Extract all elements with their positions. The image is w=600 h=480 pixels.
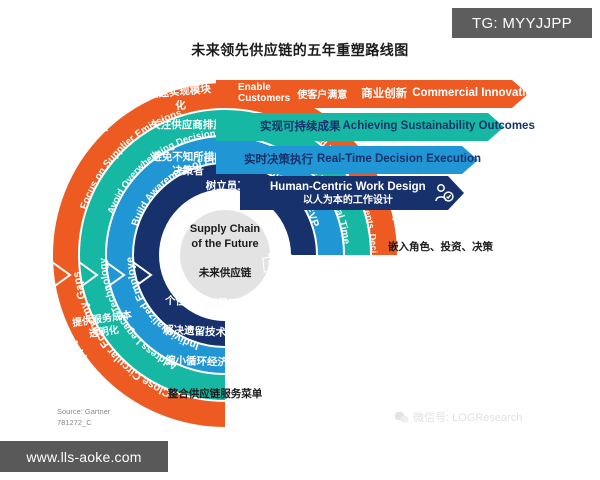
banner-commercial-innovation[interactable]: EnableCustomers 使客户满意 商业创新 Commercial In…: [216, 80, 528, 106]
cn-supplier-emissions: 关注供应商排放: [150, 118, 224, 132]
banner-cn-2: 实时决策执行: [244, 151, 313, 167]
banner-cn-1: 实现可持续成果: [260, 118, 341, 134]
page-title: 未来领先供应链的五年重塑路线图: [0, 40, 600, 60]
banner-en-1: Achieving Sustainability Outcomes: [343, 120, 535, 132]
core-label-en: Supply Chain of the Future: [185, 222, 265, 252]
banner-sustainability[interactable]: 实现可持续成果 Achieving Sustainability Outcome…: [216, 113, 504, 139]
wechat-icon: [394, 411, 409, 424]
cn-consolidate-service-menu: 整合供应链服务菜单: [150, 387, 280, 401]
person-check-icon: [434, 183, 454, 203]
url-watermark-bar: www.lls-aoke.com: [0, 441, 168, 472]
wechat-watermark: 微信号: LOGResearch: [394, 409, 522, 425]
core-label-cn: 未来供应链: [185, 266, 265, 281]
wechat-label: 微信号: LOGResearch: [413, 409, 522, 425]
banner-cn-3: 以人为本的工作设计: [303, 195, 393, 206]
banner-en-3: Human-Centric Work Design: [270, 181, 426, 193]
banner-realtime-decision[interactable]: 实时决策执行 Real-Time Decision Execution: [216, 146, 478, 172]
cn-avoid-overwhelming: 避免不知所措的决策者: [150, 150, 226, 178]
banner-pre-en-0: EnableCustomers: [238, 82, 290, 104]
source-line-1: Source: Gartner: [57, 406, 110, 417]
banner-en-0: Commercial Innovation: [412, 87, 539, 99]
cn-embed-roles-investments: 嵌入角色、投资、决策: [388, 240, 518, 254]
banner-en-2: Real-Time Decision Execution: [317, 153, 481, 165]
infographic-canvas: Accelerate Implementation With Modularit…: [0, 0, 600, 480]
evp-badge: EVP: [262, 254, 293, 272]
banner-pre-cn-0: 使客户满意: [297, 86, 347, 101]
banner-cn-0: 商业创新: [361, 85, 407, 101]
banner-human-centric-design[interactable]: Human-Centric Work Design 以人为本的工作设计: [240, 176, 464, 210]
cn-differentiate-order-exp: 差异化订单体验: [352, 320, 410, 348]
source-line-2: 781272_C: [57, 417, 110, 428]
banner-text-3: Human-Centric Work Design 以人为本的工作设计: [270, 180, 426, 207]
tg-tag-badge: TG: MYYJJPP: [452, 8, 592, 38]
source-credit: Source: Gartner 781272_C: [57, 406, 110, 428]
